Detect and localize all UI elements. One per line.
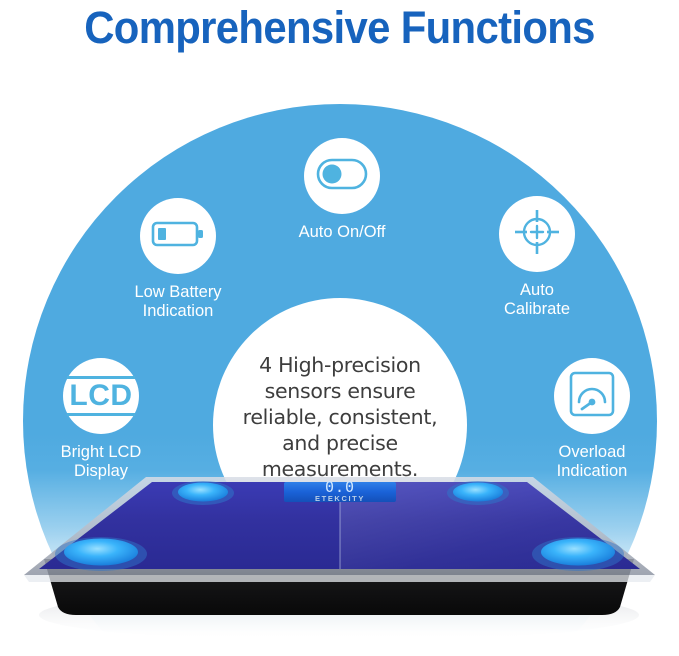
product-image-scale: 0.0 ETEKCITY [0, 455, 679, 656]
feature-label: Auto Calibrate [457, 281, 617, 319]
lcd-text-icon: LCD [67, 376, 134, 416]
sensor-pad [64, 539, 138, 566]
feature-icon-disc [554, 358, 630, 434]
sensor-pad [178, 483, 228, 502]
gauge-meter-icon [569, 371, 615, 422]
scale-illustration [0, 455, 679, 656]
feature-label: Auto On/Off [262, 223, 422, 242]
feature-auto-on-off: Auto On/Off [262, 138, 422, 242]
crosshair-target-icon [513, 208, 561, 261]
sensor-pad [541, 539, 615, 566]
scale-lcd-window [284, 482, 396, 502]
battery-low-icon [151, 218, 205, 255]
feature-icon-disc [304, 138, 380, 214]
page-title: Comprehensive Functions [24, 2, 655, 54]
feature-label: Low Battery Indication [98, 283, 258, 321]
glass-front-edge [24, 575, 655, 582]
feature-icon-disc [499, 196, 575, 272]
feature-icon-disc [140, 198, 216, 274]
feature-auto-calibrate: Auto Calibrate [457, 196, 617, 319]
infographic-canvas: Comprehensive Functions 4 High-precision… [0, 0, 679, 656]
feature-icon-disc: LCD [63, 358, 139, 434]
feature-low-battery: Low Battery Indication [98, 198, 258, 321]
sensor-pad [453, 483, 503, 502]
toggle-switch-icon [316, 158, 368, 195]
